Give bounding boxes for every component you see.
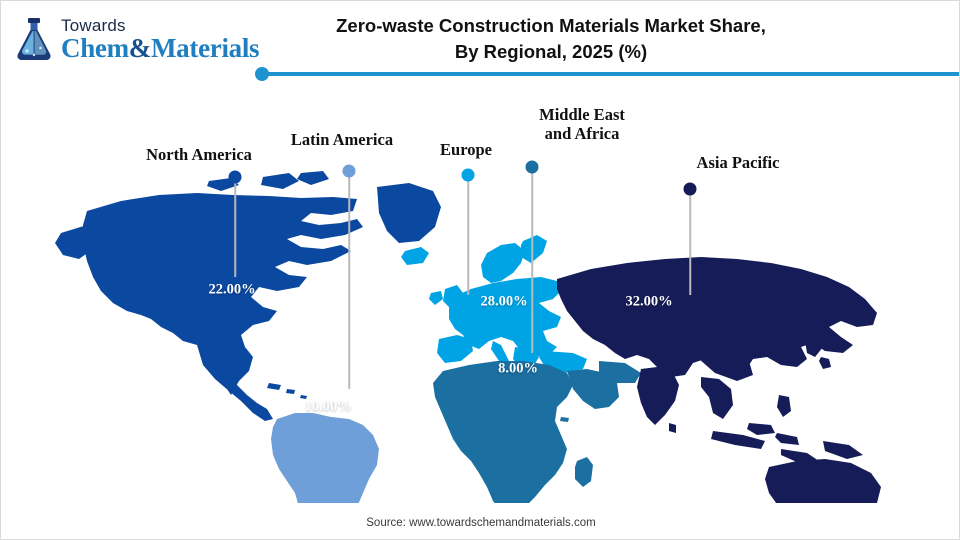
callout-label-north-america: North America (146, 145, 252, 165)
callout-label-europe: Europe (440, 140, 492, 160)
value-label-europe: 28.00% (480, 294, 527, 311)
value-label-north-america: 22.00% (208, 282, 255, 299)
callout-label-latin-america: Latin America (291, 130, 393, 150)
value-label-middle-east-africa: 8.00% (498, 361, 538, 378)
brand-wordmark: Towards Chem&Materials (61, 15, 259, 62)
title-line-2: By Regional, 2025 (%) (271, 39, 831, 65)
callout-stem-middle-east-africa (531, 173, 533, 353)
source-note: Source: www.towardschemandmaterials.com (1, 517, 960, 529)
brand-materials: Materials (151, 33, 259, 63)
callout-label-asia-pacific: Asia Pacific (697, 153, 780, 173)
value-label-latin-america: 10.00% (304, 399, 351, 416)
callout-stem-asia-pacific (689, 195, 691, 295)
brand-ampersand: & (129, 33, 151, 63)
value-label-asia-pacific: 32.00% (625, 294, 672, 311)
header-rule (259, 72, 959, 76)
callout-dot-latin-america (343, 165, 356, 178)
brand-logo[interactable]: Towards Chem&Materials (13, 15, 259, 62)
callout-label-mea-line2: and Africa (539, 124, 625, 143)
flask-icon (13, 16, 55, 62)
brand-chem: Chem (61, 33, 129, 63)
page-title: Zero-waste Construction Materials Market… (271, 13, 831, 66)
callout-dot-europe (462, 169, 475, 182)
infographic-canvas: Towards Chem&Materials Zero-waste Constr… (0, 0, 960, 540)
brand-line-towards: Towards (61, 17, 259, 34)
callout-dot-middle-east-africa (526, 161, 539, 174)
callout-stem-europe (467, 181, 469, 295)
map-region-latin-america[interactable] (271, 413, 379, 503)
map-region-middle-east-africa[interactable] (433, 361, 641, 503)
callout-stem-latin-america (348, 177, 350, 389)
callout-label-middle-east-africa: Middle East and Africa (539, 105, 625, 144)
brand-line-chem-materials: Chem&Materials (61, 35, 259, 62)
callout-stem-north-america (234, 183, 236, 277)
callout-dot-north-america (229, 171, 242, 184)
title-line-1: Zero-waste Construction Materials Market… (271, 13, 831, 39)
callout-dot-asia-pacific (684, 183, 697, 196)
callout-label-mea-line1: Middle East (539, 105, 625, 124)
